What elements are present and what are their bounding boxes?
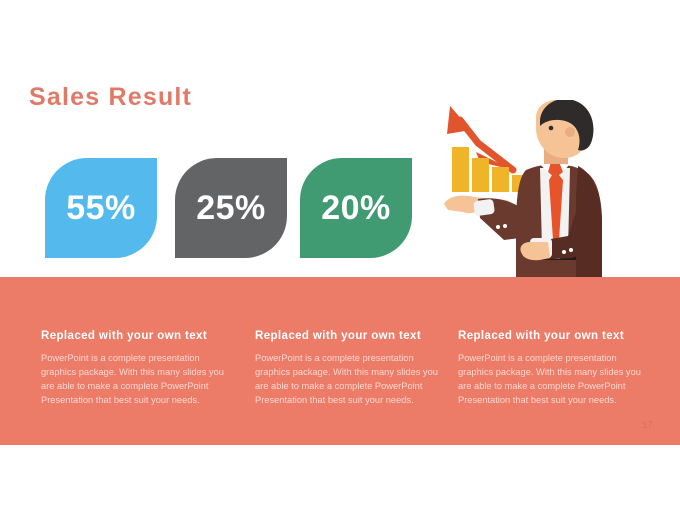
sleeve-button-1 — [496, 225, 500, 229]
sleeve-button-2 — [503, 224, 507, 228]
businessman-illustration — [418, 100, 604, 290]
column-heading-2: Replaced with your own text — [255, 330, 441, 342]
stat-value-gray: 25% — [196, 191, 266, 225]
column-body-3: PowerPoint is a complete presentation gr… — [458, 351, 644, 408]
slide: Sales Result 55% 25% 20% — [0, 0, 680, 510]
right-sleeve-button-2 — [569, 248, 573, 252]
eye — [549, 126, 554, 131]
column-heading-1: Replaced with your own text — [41, 330, 227, 342]
page-title: Sales Result — [29, 83, 192, 112]
column-body-2: PowerPoint is a complete presentation gr… — [255, 351, 441, 408]
stat-shape-green[interactable]: 20% — [300, 158, 412, 258]
left-cuff — [473, 199, 495, 217]
stat-value-blue: 55% — [66, 191, 136, 225]
text-column-2: Replaced with your own text PowerPoint i… — [255, 330, 441, 408]
text-column-1: Replaced with your own text PowerPoint i… — [41, 330, 227, 408]
text-column-3: Replaced with your own text PowerPoint i… — [458, 330, 644, 408]
stat-value-green: 20% — [321, 191, 391, 225]
text-columns: Replaced with your own text PowerPoint i… — [0, 330, 680, 420]
stat-shape-blue[interactable]: 55% — [45, 158, 157, 258]
right-sleeve-button-1 — [562, 250, 566, 254]
page-number: 17 — [642, 420, 653, 431]
stat-shape-gray[interactable]: 25% — [175, 158, 287, 258]
column-body-1: PowerPoint is a complete presentation gr… — [41, 351, 227, 408]
ear — [565, 127, 575, 137]
column-heading-3: Replaced with your own text — [458, 330, 644, 342]
